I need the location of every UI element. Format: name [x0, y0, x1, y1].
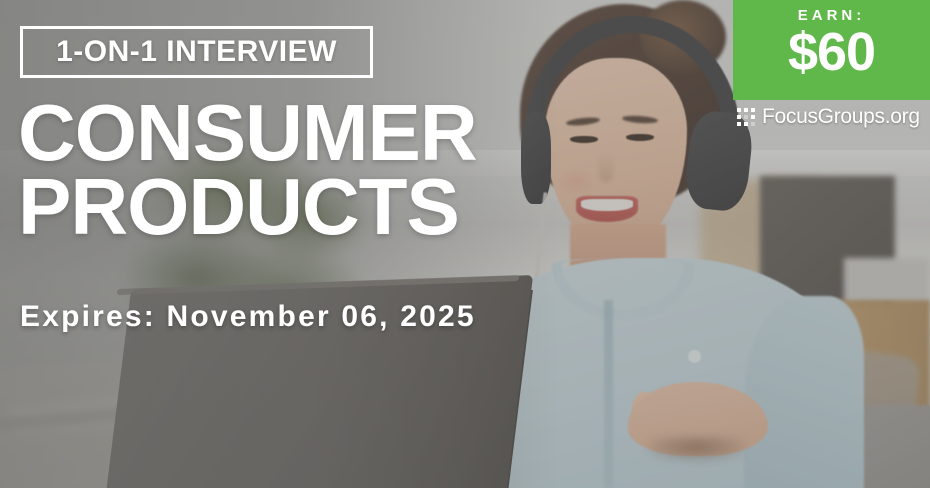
headline-line-2: PRODUCTS — [18, 170, 578, 244]
interview-type-badge: 1-ON-1 INTERVIEW — [20, 26, 373, 78]
brand-logo[interactable]: FocusGroups.org — [737, 100, 930, 134]
earn-badge[interactable]: EARN: $60 — [733, 0, 930, 100]
expiry-date: Expires: November 06, 2025 — [20, 300, 476, 334]
advertisement-banner[interactable]: 1-ON-1 INTERVIEW CONSUMER PRODUCTS Expir… — [0, 0, 930, 488]
ad-content: 1-ON-1 INTERVIEW CONSUMER PRODUCTS Expir… — [0, 0, 930, 488]
earn-label: EARN: — [798, 8, 866, 23]
interview-type-label: 1-ON-1 INTERVIEW — [56, 37, 337, 67]
headline-line-1: CONSUMER — [18, 96, 578, 170]
brand-name: FocusGroups.org — [762, 105, 920, 129]
dot-grid-icon — [737, 108, 755, 126]
page-title: CONSUMER PRODUCTS — [18, 96, 578, 245]
earn-amount: $60 — [788, 25, 875, 79]
